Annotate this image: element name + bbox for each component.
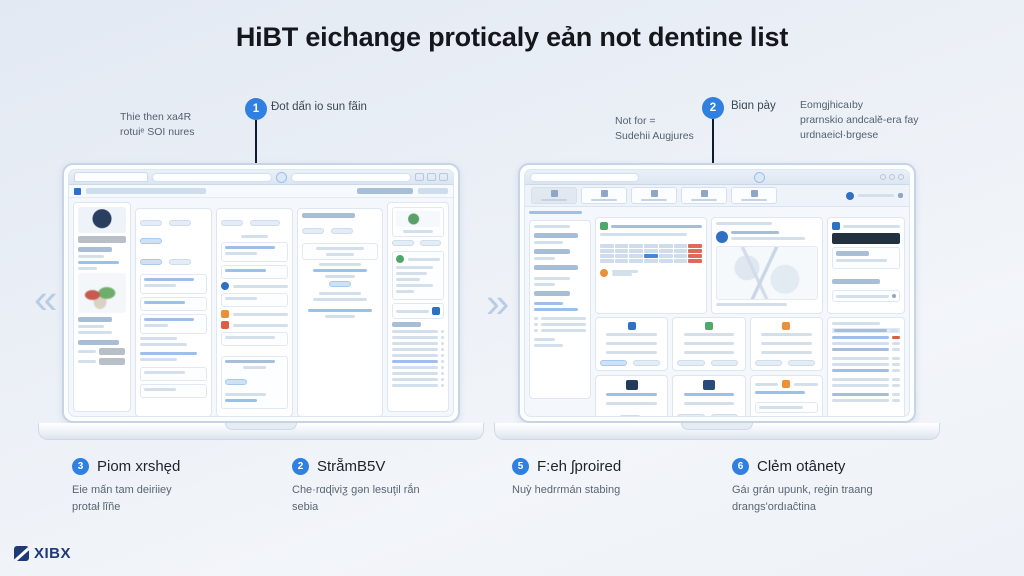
nav-icon [651,190,658,197]
nav-item[interactable] [534,233,578,238]
search-input[interactable] [396,310,429,313]
map-widget[interactable] [711,217,823,314]
callout-label-2: Biɑn pày [731,100,776,112]
caption-4-body: Gáı grán upunk, reġin traang drangs'ordı… [732,482,936,515]
header-bar [78,236,126,243]
promo-button[interactable] [392,240,414,246]
filter-pill[interactable] [169,220,191,226]
brand-card[interactable] [392,251,444,300]
circle-blue-icon [221,282,229,290]
nav-heading [534,225,570,228]
nav-label [541,199,567,201]
right-laptop-lid [518,163,916,423]
quick-action[interactable] [832,247,900,269]
tile-card[interactable] [595,317,668,371]
tile-text [761,342,812,345]
page-title: HiBT eichange proticaly eản not dentine … [0,22,1024,53]
caption-badge-3[interactable]: 5 [512,458,529,475]
caption-3-header: 5 F:eh ʃproired [512,458,716,475]
calendar-grid[interactable] [600,244,702,263]
text-line [396,266,433,269]
tile-card[interactable] [595,375,668,417]
filter-pill-active[interactable] [140,238,162,244]
pill-row [302,221,378,239]
text-line [396,278,420,281]
tile-title [761,333,812,336]
document-icon [628,322,636,330]
nav-label [741,199,767,201]
chevron-down-icon[interactable] [892,294,896,298]
caption-1: 3 Piom xrshęd Eie mấn tam deiriiey prota… [72,458,292,515]
nav-icon [551,190,558,197]
app-logo-icon [74,188,81,195]
left-laptop-lid [62,163,460,423]
caption-4: 6 Clẻm otânety Gáı grán upunk, reġin tra… [732,458,952,515]
caption-4-header: 6 Clẻm otânety [732,458,936,475]
settings-icon[interactable] [439,173,448,181]
app-user-placeholder[interactable] [357,188,413,194]
nav-label [591,199,617,201]
select-field[interactable] [832,290,900,302]
icon-row [221,282,288,290]
promo-card[interactable] [392,207,444,237]
laptop-icon [626,380,638,390]
link-line[interactable] [308,309,373,312]
circle-slash-icon [14,546,29,561]
map-sub [731,237,805,240]
content-panel-c [297,208,383,417]
tile-title [755,391,806,394]
content-panel-b [216,208,293,417]
nav-item-5[interactable] [731,187,777,204]
tile-button[interactable] [619,415,641,417]
filter-pill[interactable] [221,220,243,226]
filter-pill[interactable] [302,228,324,234]
list-item[interactable] [140,274,207,294]
panel-heading [832,279,880,284]
section-heading [78,317,112,322]
right-left-rail [529,211,591,399]
browser-toolbar [525,170,909,185]
widget-title [611,225,702,228]
action-sub [836,259,887,262]
caption-1-title: Piom xrshęd [97,458,180,475]
value [99,358,125,365]
text-line [319,292,361,295]
chart-icon [705,322,713,330]
list-row[interactable] [832,369,900,372]
list-row[interactable] [832,399,900,402]
tile-card[interactable] [750,375,823,417]
link-line[interactable] [140,352,197,355]
section-heading [78,247,112,252]
nav-item-2[interactable] [581,187,627,204]
event-icon [600,269,608,277]
calendar-widget[interactable] [595,217,707,314]
chevron-down-icon[interactable] [898,193,903,198]
nav-sub [534,257,555,260]
text-line [140,343,187,346]
filter-pill[interactable] [140,220,162,226]
list-row[interactable] [832,336,900,339]
left-laptop [62,163,460,440]
section-heading [78,340,119,345]
tile-row-2 [595,375,823,417]
caption-3-body: Nuỳ hedrɾmán stabing [512,482,716,499]
list-row[interactable] [832,357,900,360]
card-sub [243,366,267,369]
tile-title [684,333,735,336]
text-line [396,284,433,287]
callout-badge-2[interactable]: 2 [702,97,724,119]
content-panel-a [135,208,212,417]
value [99,348,125,355]
list-item[interactable] [221,332,288,346]
callout-note-right: Not for = Sudehii Augjures [615,114,725,144]
right-app-body [525,207,909,403]
list-item[interactable] [221,293,288,307]
icon-row [221,321,288,329]
list-item[interactable] [221,242,288,262]
text-line [313,298,366,301]
app-action-placeholder[interactable] [418,188,448,194]
tile-button[interactable] [711,360,738,366]
widget-header [600,222,702,230]
image-icon[interactable] [427,173,436,181]
map-label [731,231,779,234]
address-bar[interactable] [152,173,272,182]
callout-note-far-right: Eomgјhicaıby prarnskio andcalĕ-era fay u… [800,98,950,144]
browser-toolbar [69,170,453,185]
tile-text [684,402,735,405]
caption-badge-4[interactable]: 6 [732,458,749,475]
brand-name [408,258,440,261]
caption-3-title: F:eh ʃproired [537,458,621,475]
pill-row [140,213,207,249]
text-line [78,255,104,258]
right-main-column [595,211,905,399]
reload-icon[interactable] [754,172,765,183]
right-laptop-screen [524,169,910,417]
key-value-row [78,348,126,355]
nav-sub [534,283,555,286]
right-laptop-base [494,423,940,440]
account-name [858,194,894,197]
avatar[interactable] [846,192,854,200]
widget-sub [600,233,687,236]
brand-logo: XIBX [14,545,71,562]
filter-pill-active[interactable] [140,259,162,265]
callout-note-left: Thie then xa4R rotuiᵉ SOI nures [120,110,240,140]
reload-icon[interactable] [276,172,287,183]
action-button[interactable] [329,281,351,287]
crest-image [78,207,126,233]
item-title [144,318,194,321]
app-header-bar [69,185,453,198]
text-line [233,324,288,327]
caption-2-header: 2 StrẵmB5V [292,458,496,475]
nav-check-row[interactable] [534,317,586,320]
item-sub [144,284,176,287]
monitor-icon [703,380,715,390]
app-nav-strip [525,185,909,207]
key [78,360,96,363]
search-icon[interactable] [432,307,440,315]
link-line[interactable] [313,269,366,272]
nav-label [691,199,717,201]
nav-item-3[interactable] [631,187,677,204]
caption-badge-1[interactable]: 3 [72,458,89,475]
square-orange-icon [221,310,229,318]
tile-button[interactable] [600,360,627,366]
item-title [225,246,275,249]
right-laptop [518,163,916,440]
prev-arrow-icon[interactable]: « [34,278,57,320]
panel-heading [302,213,355,218]
account-widget[interactable] [827,217,905,314]
text-line [396,272,427,275]
tile-title [606,333,657,336]
item-title [144,301,185,304]
search-box[interactable] [392,303,444,319]
promo-title [403,230,434,233]
tile-button[interactable] [677,414,704,417]
highlight-banner [832,233,900,244]
list-item[interactable] [392,372,444,375]
stat-value [326,253,353,256]
list-item[interactable] [140,367,207,381]
account-area[interactable] [846,192,903,200]
list-item[interactable] [392,348,444,351]
tile-card[interactable] [672,317,745,371]
tile-button[interactable] [711,414,738,417]
list-row[interactable] [832,384,900,387]
tile-card[interactable] [672,375,745,417]
text-line [78,261,119,264]
list-row-selected[interactable] [832,328,900,333]
left-sidebar-panel [73,202,131,412]
text-line [225,393,266,396]
nav-icon [701,190,708,197]
right-sidebar-panel [387,202,449,412]
list-item[interactable] [392,384,444,387]
caption-3: 5 F:eh ʃproired Nuỳ hedrɾmán stabing [512,458,732,515]
address-bar-extra[interactable] [291,173,411,182]
pill-row [221,213,288,231]
caption-4-title: Clẻm otânety [757,458,845,475]
list-heading [392,322,421,327]
left-nav-panel [529,220,591,399]
browser-tab[interactable] [74,172,148,182]
item-title [144,388,176,391]
nav-item-4[interactable] [681,187,727,204]
action-label [836,251,869,256]
item-sub [225,252,257,255]
nav-sub [534,338,555,341]
item-sub [144,324,168,327]
tile-text [606,351,657,354]
stat-card [302,243,378,260]
list-item[interactable] [392,342,444,345]
text-line [78,331,112,334]
tile-text [761,351,812,354]
text-line [140,337,177,340]
pill-row [140,252,207,270]
map-caption [716,303,787,306]
nav-item[interactable] [534,249,570,254]
right-list-panel [827,317,905,417]
tile-text [684,351,735,354]
promo-button[interactable] [420,240,442,246]
list-item[interactable] [392,354,444,357]
filter-pill[interactable] [331,228,353,234]
circle-green-icon [396,255,404,263]
left-laptop-screen [68,169,454,417]
tile-button[interactable] [755,360,782,366]
caption-row: 3 Piom xrshęd Eie mấn tam deiriiey prota… [0,458,1024,515]
browser-window-controls[interactable] [415,173,448,181]
location-icon [716,231,728,243]
list-item[interactable] [221,265,288,279]
left-laptop-notch [225,423,297,430]
stat-label [316,247,364,250]
promo-image [396,211,440,227]
nav-item[interactable] [534,265,578,270]
tile-button[interactable] [788,360,815,366]
callout-badge-1[interactable]: 1 [245,98,267,120]
caption-1-body: Eie mấn tam deiriiey protał lĩñe [72,482,276,515]
left-app-body [69,198,453,416]
list-item[interactable] [392,360,444,363]
left-laptop-base [38,423,484,440]
caption-badge-2[interactable]: 2 [292,458,309,475]
item-title [225,336,275,339]
tile-text [606,402,657,405]
caption-1-header: 3 Piom xrshęd [72,458,276,475]
widget-title [716,222,772,225]
text-line [233,285,288,288]
list-item[interactable] [140,314,207,334]
caption-2-title: StrẵmB5V [317,458,385,475]
list-item[interactable] [392,330,444,333]
nav-icon [601,190,608,197]
list-item[interactable] [392,336,444,339]
text-line [140,358,177,361]
close-icon[interactable] [898,174,904,180]
icon-row [221,310,288,318]
callout-label-1: Ɖot dấn io sun fãin [271,101,367,113]
next-arrow-icon[interactable]: » [486,282,509,324]
widget-title [843,225,900,228]
item-title [225,297,257,300]
tile-card[interactable] [750,317,823,371]
nav-link[interactable] [534,308,578,311]
alert-icon [782,322,790,330]
list-row[interactable] [832,393,900,396]
tile-title [684,393,735,396]
calendar-footer [600,269,702,277]
filter-pill[interactable] [169,259,191,265]
nav-sub [534,241,563,244]
list-row[interactable] [832,363,900,366]
list-item[interactable] [392,366,444,369]
nav-sub [534,344,563,347]
text-line [396,290,414,293]
tile-title [606,393,657,396]
nav-sub [534,277,570,280]
nav-label [641,199,667,201]
nav-icon [751,190,758,197]
text-line [325,275,355,278]
list-item[interactable] [392,378,444,381]
account-icon [832,222,840,230]
text-line [78,267,97,270]
list-item[interactable] [140,297,207,311]
nav-item-1[interactable] [531,187,577,204]
right-laptop-notch [681,423,753,430]
product-photo [78,273,126,313]
maximize-icon[interactable] [889,174,895,180]
key-value-row [78,358,126,365]
list-row[interactable] [832,378,900,381]
tile-input[interactable] [755,402,818,413]
brand-name: XIBX [34,545,71,562]
breadcrumb[interactable] [529,211,582,214]
card-action[interactable] [225,379,247,385]
browser-window-controls[interactable] [880,174,904,180]
flag-icon [782,380,790,388]
list-item[interactable] [140,384,207,398]
item-title [144,371,185,374]
tile-button[interactable] [677,360,704,366]
calendar-icon [600,222,608,230]
card-title [225,360,275,363]
window-icon[interactable] [415,173,424,181]
tile-row-1 [595,317,823,371]
text-line [233,313,288,316]
filter-pill[interactable] [250,220,280,226]
tile-text [606,342,657,345]
app-title-placeholder [86,188,206,194]
map-image[interactable] [716,246,818,300]
text-line [241,235,268,238]
nav-item[interactable] [534,291,570,296]
item-title [144,278,194,281]
tile-text [684,342,735,345]
highlight-card[interactable] [221,356,288,409]
text-line [319,263,361,266]
text-line [325,315,355,318]
minimize-icon[interactable] [880,174,886,180]
widget-header [832,222,900,230]
item-title [225,269,266,272]
nav-check-row[interactable] [534,323,586,326]
left-main-column [135,202,383,412]
link-line[interactable] [225,399,257,402]
caption-2: 2 StrẵmB5V Che·rɑɖiviƺ gǝn lesuţil rắn s… [292,458,512,515]
promo-actions [392,240,444,246]
list-row[interactable] [832,348,900,351]
address-bar[interactable] [530,173,639,182]
nav-check-row[interactable] [534,329,586,332]
tiles-area [595,317,823,417]
tile-button[interactable] [633,360,660,366]
icon-row [396,255,440,263]
tile-header [755,380,818,388]
nav-link[interactable] [534,302,563,305]
key [78,350,96,353]
list-row[interactable] [832,342,900,345]
